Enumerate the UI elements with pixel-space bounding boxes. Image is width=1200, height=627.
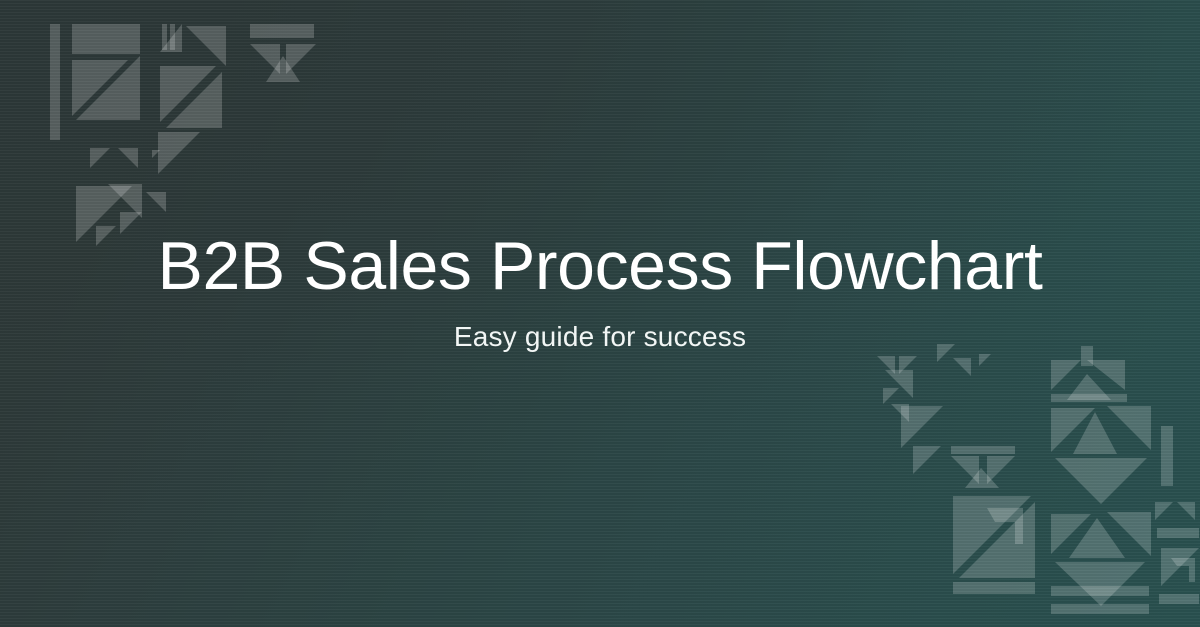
page-title: B2B Sales Process Flowchart — [158, 230, 1043, 302]
banner-canvas: B2B Sales Process Flowchart Easy guide f… — [0, 0, 1200, 627]
banner-text-block: B2B Sales Process Flowchart Easy guide f… — [0, 0, 1200, 627]
page-subtitle: Easy guide for success — [158, 320, 1043, 354]
